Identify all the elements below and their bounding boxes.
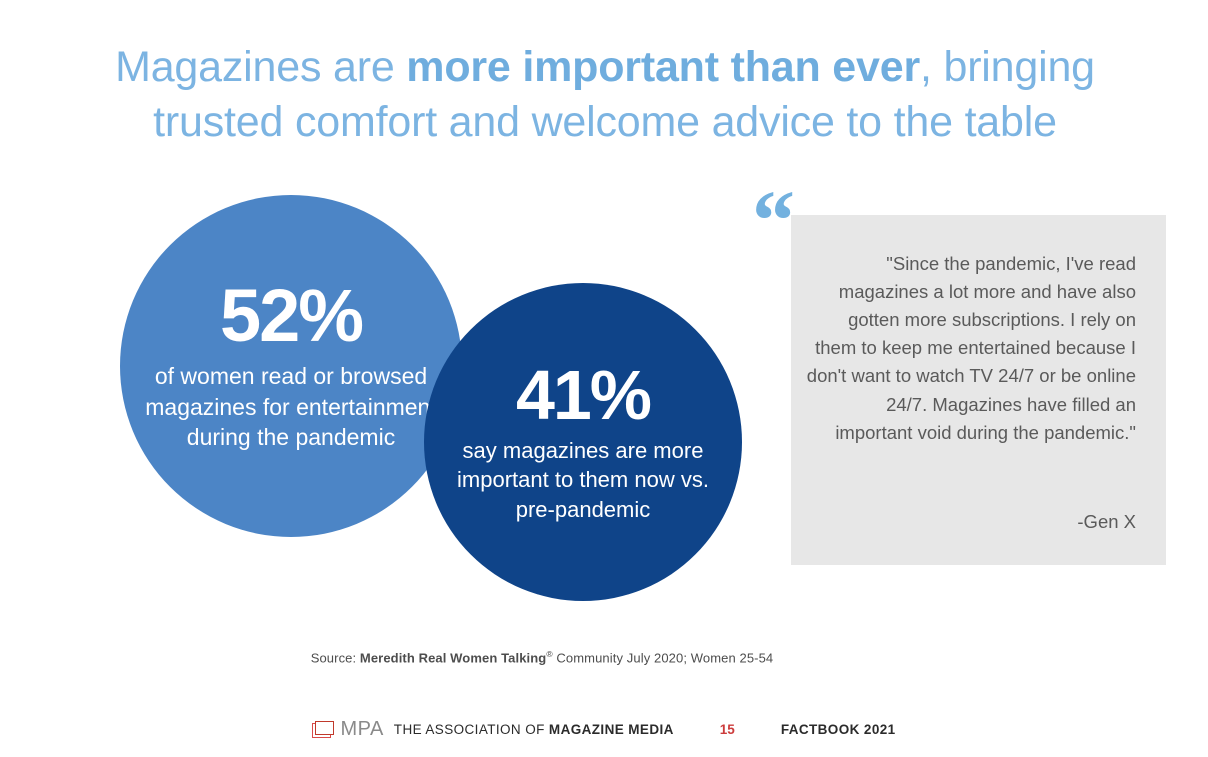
footer-association-prefix: THE ASSOCIATION OF <box>394 722 549 737</box>
source-label: Source: <box>311 650 360 665</box>
stat-circle-women-read-browsed: 52% of women read or browsed magazines f… <box>120 195 462 537</box>
source-detail: Community July 2020; Women 25-54 <box>553 650 774 665</box>
stat-percent: 41% <box>516 360 650 430</box>
mpa-wordmark: MPA <box>340 718 383 741</box>
page-title: Magazines are more important than ever, … <box>60 40 1150 150</box>
stat-circle-more-important-now: 41% say magazines are more important to … <box>424 283 742 601</box>
mpa-logo-icon <box>312 721 336 739</box>
footer-page-number: 15 <box>720 722 735 737</box>
footer-association-bold: MAGAZINE MEDIA <box>549 722 674 737</box>
quote-mark-icon: “ <box>752 177 792 263</box>
footer-factbook-label: FACTBOOK 2021 <box>781 722 896 737</box>
stat-description: of women read or browsed magazines for e… <box>138 361 444 452</box>
source-study: Meredith Real Women Talking <box>360 650 546 665</box>
footer-association-text: THE ASSOCIATION OF MAGAZINE MEDIA <box>394 722 674 737</box>
footer-bar: MPA THE ASSOCIATION OF MAGAZINE MEDIA 15… <box>0 718 1208 741</box>
headline-part-1: Magazines are <box>115 43 406 91</box>
quote-attribution: -Gen X <box>806 508 1136 536</box>
stat-percent: 52% <box>220 279 362 353</box>
source-note: Source: Meredith Real Women Talking® Com… <box>0 649 1084 665</box>
slide-canvas: Magazines are more important than ever, … <box>0 0 1208 757</box>
stat-description: say magazines are more important to them… <box>438 436 728 523</box>
quote-text: "Since the pandemic, I've read magazines… <box>806 250 1136 447</box>
headline-emphasis: more important than ever <box>406 43 920 91</box>
